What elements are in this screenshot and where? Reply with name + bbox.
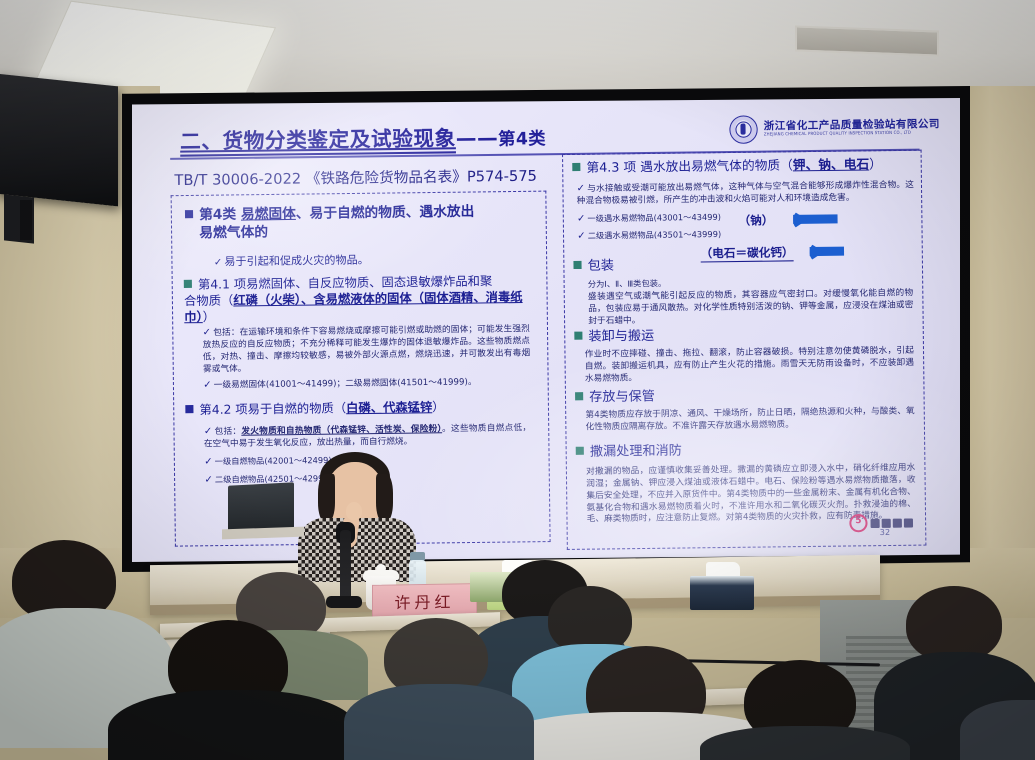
spill-heading-text: 撒漏处理和消防 [590, 443, 682, 459]
presenter [296, 452, 418, 582]
laptop [228, 482, 294, 531]
check-icon: ✓ [577, 230, 586, 241]
item41-heading-b: 合物质（ [184, 293, 233, 308]
presenter-hand [346, 502, 362, 520]
storage-heading-text: 存放与保管 [589, 389, 655, 405]
class4-heading: 第4类 易燃固体、易于自燃的物质、遇水放出 易燃气体的 [185, 203, 537, 244]
item43-heading-post: ） [869, 156, 882, 171]
bullet-square-icon [185, 405, 193, 413]
item43-heading-bold: 钾、钠、电石 [793, 156, 869, 172]
check-icon: ✓ [577, 213, 586, 224]
check-icon: ✓ [204, 474, 213, 485]
audience-shoulders [344, 684, 534, 760]
packing-heading-text: 包装 [588, 258, 614, 273]
item42-heading-post: ） [432, 400, 444, 414]
microphone [340, 530, 351, 604]
bullet-square-icon [572, 163, 580, 171]
storage-body: 第4类物质应存放于阴凉、通风、干燥场所，防止日晒，隔绝热源和火种，与酸类、氧化性… [585, 406, 915, 434]
wall-right [960, 86, 1035, 606]
speaker-bracket-arm [20, 200, 32, 240]
lecture-room-photo: 二、货物分类鉴定及试验现象——第4类 浙江省化工产品质量检验站有限公司 ZHEJ… [0, 0, 1035, 760]
item43-body: ✓与水接触或受潮可能放出易燃气体，这种气体与空气混合能够形成爆炸性混合物。这种混… [577, 178, 915, 243]
audience-shoulders [700, 726, 910, 760]
packing-l2: 盛装遇空气或潮气能引起反应的物质，其容器应气密封口。对缓慢氧化能自燃的物品，包装… [588, 289, 914, 329]
company-logo: 浙江省化工产品质量检验站有限公司 ZHEJIANG CHEMICAL PRODU… [729, 113, 940, 144]
slide-title-main: 二、货物分类鉴定及试验现象 [180, 126, 456, 157]
check-icon: ✓ [203, 327, 212, 338]
wall-speaker-icon [0, 74, 118, 207]
class4-underlined: 易燃固体 [241, 206, 296, 223]
item42-heading-bold: 白磷、代森锰锌 [346, 400, 432, 415]
bullet-square-icon [573, 261, 581, 269]
standard-reference: TB/T 30006-2022 《铁路危险货物品名表》P574-575 [174, 164, 537, 190]
item41-body: ✓包括：在运输环境和条件下容易燃烧或摩擦可能引燃或助燃的固体；可能发生强烈放热反… [203, 322, 531, 393]
class4-post: 、易于自燃的物质、遇水放出 [296, 204, 475, 222]
badge-chips-icon [871, 518, 914, 528]
item42-heading-pre: 第4.2 项易于自燃的物质（ [199, 401, 346, 417]
bullet-square-icon [576, 447, 584, 455]
check-icon: ✓ [577, 183, 586, 194]
item41-heading-bold: 红磷（火柴）、含易燃液体的固体（固体酒精、消毒纸巾） [184, 290, 522, 324]
storage-body-text: 第4类物质应存放于阴凉、通风、干燥场所，防止日晒，隔绝热源和火种，与酸类、氧化性… [585, 406, 915, 434]
bullet-square-icon [184, 280, 192, 288]
item42-body-bold: 发火物质和自热物质（代森锰锌、活性炭、保险粉） [241, 424, 442, 437]
slide-page-number: 32 [880, 528, 890, 537]
item43-heading-pre: 第4.3 项 遇水放出易燃气体的物质（ [586, 157, 793, 175]
presenter-hair-left [318, 474, 335, 522]
loading-body-text: 作业时不应摔碰、撞击、拖拉、翻滚，防止容器破损。特别注意勿使黄磷脱水，引起自燃。… [585, 346, 915, 386]
item42-body-pre: 包括： [214, 427, 241, 437]
badge-circle-icon: 5 [849, 514, 867, 532]
company-name-en: ZHEJIANG CHEMICAL PRODUCT QUALITY INSPEC… [764, 130, 940, 137]
class4-sub-text: 易于引起和促成火灾的物品。 [224, 253, 369, 268]
check-icon: ✓ [204, 426, 213, 437]
check-icon: ✓ [204, 456, 213, 467]
item41-heading-c: ） [203, 310, 215, 324]
check-icon: ✓ [214, 257, 223, 268]
air-vent [795, 25, 939, 56]
slide-title: 二、货物分类鉴定及试验现象——第4类 [180, 120, 546, 155]
item41-heading: 第4.1 项易燃固体、自反应物质、固态退敏爆炸品和聚 合物质（红磷（火柴）、含易… [184, 274, 540, 326]
audience-head [906, 586, 1002, 662]
item43-grade1: 一级遇水易燃物品(43001～43499) [587, 211, 721, 223]
bullet-square-icon [574, 332, 582, 340]
item41-grades: 一级易燃固体(41001～41499)；二级易燃固体(41501～41999)。 [214, 378, 477, 391]
item43-body-text: 与水接触或受潮可能放出易燃气体，这种气体与空气混合能够形成爆炸性混合物。这种混合… [577, 180, 914, 206]
presenter-name: 许丹红 [394, 588, 454, 613]
item41-heading-a: 第4.1 项易燃固体、自反应物质、固态退敏爆炸品和聚 [198, 274, 492, 292]
presenter-hair-right [376, 474, 393, 522]
item41-body-text: 包括：在运输环境和条件下容易燃烧或摩擦可能引燃或助燃的固体；可能发生强烈放热反应… [203, 324, 530, 374]
callout-sodium: （钠） [738, 212, 773, 229]
slide-title-tail: 第4类 [498, 129, 546, 150]
loading-body: 作业时不应摔碰、撞击、拖拉、翻滚，防止容器破损。特别注意勿使黄磷脱水，引起自燃。… [585, 346, 915, 386]
seal-icon [729, 115, 758, 144]
microphone-base [326, 596, 362, 608]
class4-pre: 第4类 [199, 206, 241, 223]
audience-shoulders [108, 690, 358, 760]
tissue-box-dark [690, 576, 754, 610]
slide-title-dash: —— [456, 126, 499, 151]
bullet-square-icon [185, 210, 193, 218]
bullet-square-icon [575, 392, 583, 400]
item43-grade2: 二级遇水易燃物品(43501～43999) [588, 229, 722, 241]
check-icon: ✓ [203, 380, 212, 391]
arrow-right-icon [793, 213, 838, 225]
loading-heading-text: 装卸与搬运 [588, 329, 654, 345]
packing-body: 分为Ⅰ、Ⅱ、Ⅲ类包装。 盛装遇空气或潮气能引起反应的物质，其容器应气密封口。对缓… [588, 275, 914, 329]
